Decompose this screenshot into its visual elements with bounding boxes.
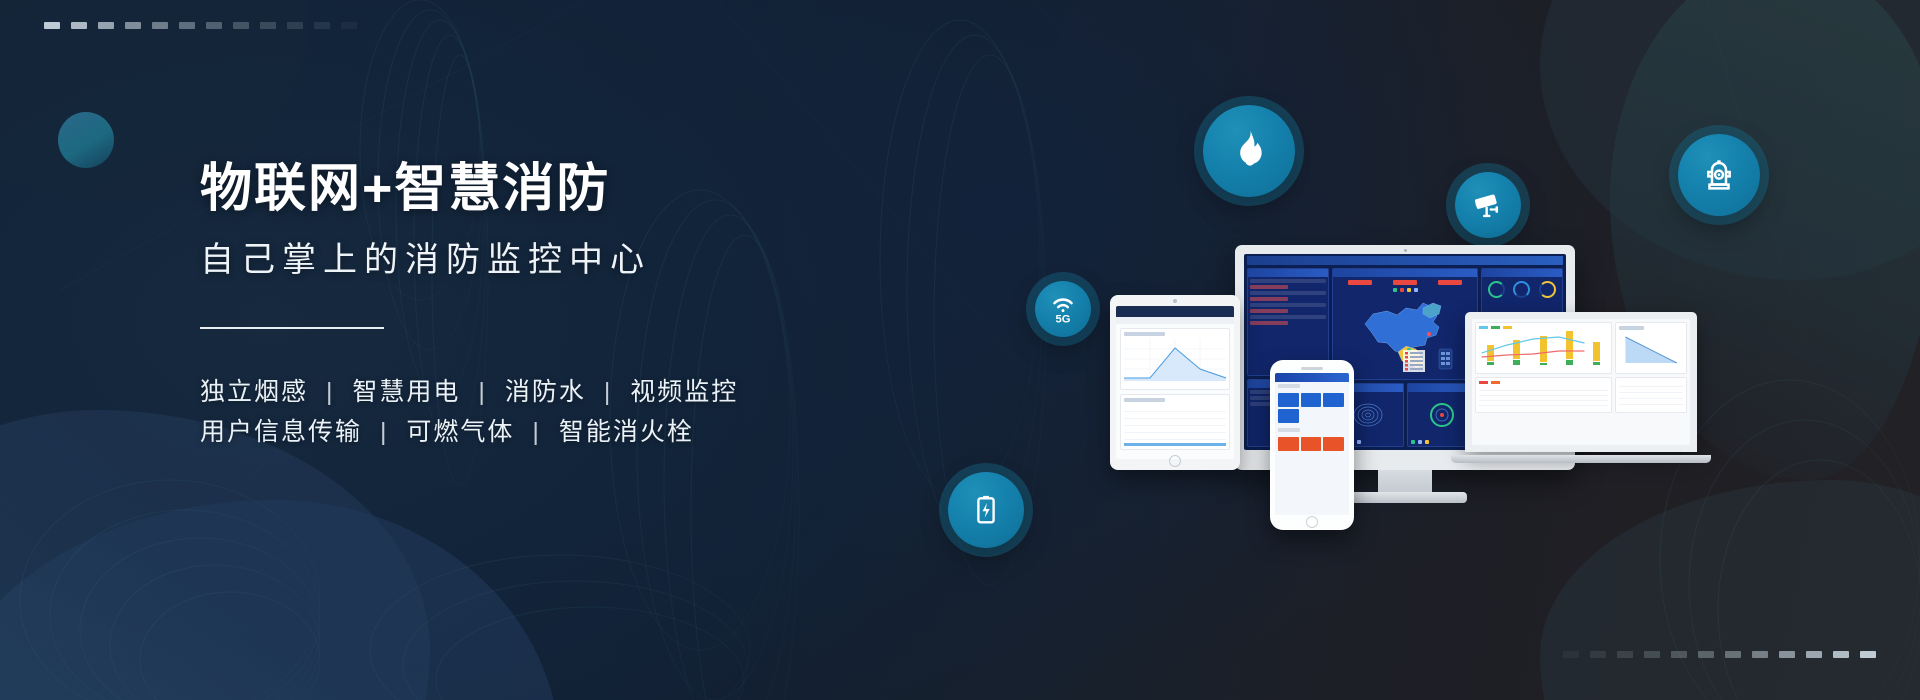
phone-screen: [1275, 373, 1349, 515]
blob-bottom-left-2: [0, 500, 560, 700]
legend-swatch: [1393, 288, 1397, 292]
dash: [1671, 651, 1687, 658]
tablet-line-chart-card: [1120, 328, 1230, 390]
dash: [98, 22, 114, 29]
radar-row: [1332, 383, 1478, 447]
battery-icon-badge: [948, 472, 1024, 548]
dash: [1752, 651, 1768, 658]
panel-header: [1482, 269, 1562, 277]
battery-icon: [967, 491, 1005, 529]
table-row: [1250, 291, 1326, 295]
5g-icon: 5G: [1047, 293, 1079, 325]
legend-swatch: [1357, 440, 1361, 444]
tile-alarm: [1301, 437, 1322, 451]
laptop-misc-card: [1615, 377, 1687, 413]
dashboard-title-bar: [1247, 256, 1563, 265]
tablet-navbar: [1116, 306, 1234, 317]
china-map-shape: [1351, 294, 1459, 378]
gauge-ring: [1488, 281, 1505, 298]
table-row: [1250, 309, 1288, 313]
laptop-combo-chart: [1479, 331, 1608, 365]
chart-legend: [1479, 381, 1608, 384]
laptop-base: [1451, 455, 1711, 463]
camera-icon-badge: [1455, 172, 1521, 238]
dash: [1698, 651, 1714, 658]
legend-swatch: [1425, 440, 1429, 444]
dash: [1833, 651, 1849, 658]
china-map-chart: [1333, 294, 1477, 379]
tile-alarm: [1278, 437, 1299, 451]
legend-swatch: [1479, 381, 1488, 384]
legend-swatch: [1418, 440, 1422, 444]
monitor-camera-dot: [1404, 249, 1407, 252]
section-label: [1278, 384, 1300, 388]
kpi-value: [1393, 280, 1417, 285]
feature-line-2: 用户信息传输 | 可燃气体 | 智能消火栓: [200, 413, 840, 453]
dash: [44, 22, 60, 29]
dash: [1779, 651, 1795, 658]
phone-tile-grid-alarm: [1275, 434, 1349, 454]
laptop-screen: [1472, 319, 1690, 445]
glow-circle-accent: [58, 112, 114, 168]
laptop-bottom-row: [1475, 377, 1687, 416]
dash: [1725, 651, 1741, 658]
hydrant-icon: [1699, 155, 1739, 195]
table-row: [1250, 285, 1288, 289]
table-row: [1250, 303, 1326, 307]
device-mockup-cluster: [1120, 270, 1760, 570]
feature-item-hydrant: 智能消火栓: [559, 418, 694, 446]
dash: [287, 22, 303, 29]
legend-swatch: [1414, 288, 1418, 292]
tile-device: [1278, 393, 1299, 407]
legend-swatch: [1400, 288, 1404, 292]
dash: [233, 22, 249, 29]
tablet-screen: [1116, 306, 1234, 459]
table-grid: [1124, 405, 1226, 441]
feature-item-water: 消防水: [505, 378, 586, 406]
tile-alarm: [1323, 437, 1344, 451]
tablet-home-button: [1169, 455, 1181, 467]
fire-icon-badge: [1203, 105, 1295, 197]
phone-home-button: [1306, 516, 1318, 528]
feature-separator: |: [317, 378, 344, 406]
panel-header: [1333, 269, 1477, 277]
legend-swatch: [1491, 381, 1500, 384]
hero-banner: 物联网+智慧消防 自己掌上的消防监控中心 独立烟感 | 智慧用电 | 消防水 |…: [0, 0, 1920, 700]
feature-list: 独立烟感 | 智慧用电 | 消防水 | 视频监控 用户信息传输 | 可燃气体 |…: [200, 373, 840, 452]
decor-dashes-top-left: [44, 22, 357, 29]
chart-legend: [1479, 326, 1608, 329]
overlay-lines: [1479, 331, 1608, 365]
tablet-table-card: [1120, 394, 1230, 450]
phone-tile-grid-normal: [1275, 390, 1349, 426]
camera-icon: [1471, 188, 1505, 222]
feature-item-transmission: 用户信息传输: [200, 418, 362, 446]
phone-appbar: [1275, 373, 1349, 382]
radar-rings: [1351, 401, 1385, 429]
tablet-subbar: [1116, 317, 1234, 324]
legend-swatch: [1479, 326, 1488, 329]
panel-header: [1248, 269, 1328, 277]
laptop-device: [1465, 312, 1725, 462]
table-row: [1250, 297, 1288, 301]
decor-dashes-bottom-right: [1563, 651, 1876, 658]
gauge-group: [1482, 277, 1562, 302]
feature-item-video: 视频监控: [630, 378, 738, 406]
laptop-bar-chart-card: [1475, 322, 1612, 374]
laptop-area-chart-card: [1615, 322, 1687, 374]
dash: [1590, 651, 1606, 658]
dash: [1617, 651, 1633, 658]
section-label: [1278, 428, 1300, 432]
dash: [1563, 651, 1579, 658]
legend-swatch: [1503, 326, 1512, 329]
tile-device: [1278, 409, 1299, 423]
gauge-ring: [1427, 401, 1457, 429]
kpi-value: [1348, 280, 1372, 285]
feature-separator: |: [595, 378, 622, 406]
dash: [1860, 651, 1876, 658]
feature-item-gas: 可燃气体: [406, 418, 514, 446]
tablet-line-chart: [1124, 339, 1226, 381]
kpi-row: [1333, 277, 1477, 286]
blob-bottom-left-1: [0, 410, 430, 700]
legend-swatch: [1407, 288, 1411, 292]
dashboard-header-row: [1244, 254, 1566, 265]
table-row: [1250, 279, 1326, 283]
gauges-panel: [1481, 268, 1563, 316]
dash: [1644, 651, 1660, 658]
monitor-stand-base: [1343, 492, 1467, 503]
dash: [260, 22, 276, 29]
feature-separator: |: [469, 378, 496, 406]
laptop-table-card: [1475, 377, 1612, 413]
page-title: 物联网+智慧消防: [200, 160, 840, 218]
dash: [1806, 651, 1822, 658]
tile-device: [1301, 393, 1322, 407]
table-grid: [1479, 386, 1608, 408]
monitor-stand-neck: [1378, 470, 1432, 494]
feature-item-electric: 智慧用电: [352, 378, 460, 406]
descending-area-chart: [1619, 333, 1683, 365]
table-row: [1250, 321, 1288, 325]
laptop-bezel: [1465, 312, 1697, 452]
tablet-camera-dot: [1173, 299, 1177, 303]
baseline-bar: [1124, 443, 1226, 446]
feature-separator: |: [523, 418, 550, 446]
dash: [206, 22, 222, 29]
dash: [341, 22, 357, 29]
gauge-ring: [1513, 281, 1530, 298]
svg-text:5G: 5G: [1056, 313, 1071, 325]
feature-line-1: 独立烟感 | 智慧用电 | 消防水 | 视频监控: [200, 373, 840, 413]
card-title: [1619, 326, 1645, 330]
laptop-top-row: [1475, 322, 1687, 377]
hero-copy: 物联网+智慧消防 自己掌上的消防监控中心 独立烟感 | 智慧用电 | 消防水 |…: [200, 160, 840, 452]
fire-icon: [1226, 128, 1272, 174]
legend-swatch: [1411, 440, 1415, 444]
china-map-panel: [1332, 268, 1478, 380]
divider-rule: [200, 327, 384, 329]
page-subtitle: 自己掌上的消防监控中心: [200, 240, 840, 281]
card-title: [1124, 398, 1165, 402]
legend-swatch: [1491, 326, 1500, 329]
tile-device: [1323, 393, 1344, 407]
map-legend: [1333, 286, 1477, 294]
feature-item-smoke: 独立烟感: [200, 378, 308, 406]
card-title: [1124, 332, 1165, 336]
dash: [314, 22, 330, 29]
hydrant-icon-badge: [1678, 134, 1760, 216]
feature-separator: |: [371, 418, 398, 446]
tablet-device: [1110, 295, 1240, 470]
dash: [125, 22, 141, 29]
dash: [152, 22, 168, 29]
dashboard-center-column: [1332, 268, 1478, 447]
gauge-ring: [1539, 281, 1556, 298]
chart-grid: [1619, 381, 1683, 409]
dash: [71, 22, 87, 29]
dash: [179, 22, 195, 29]
phone-speaker: [1301, 367, 1323, 370]
alarm-rows: [1248, 277, 1328, 327]
table-row: [1250, 315, 1326, 319]
smartphone-device: [1270, 360, 1354, 530]
5g-icon-badge: 5G: [1035, 281, 1091, 337]
kpi-value: [1438, 280, 1462, 285]
